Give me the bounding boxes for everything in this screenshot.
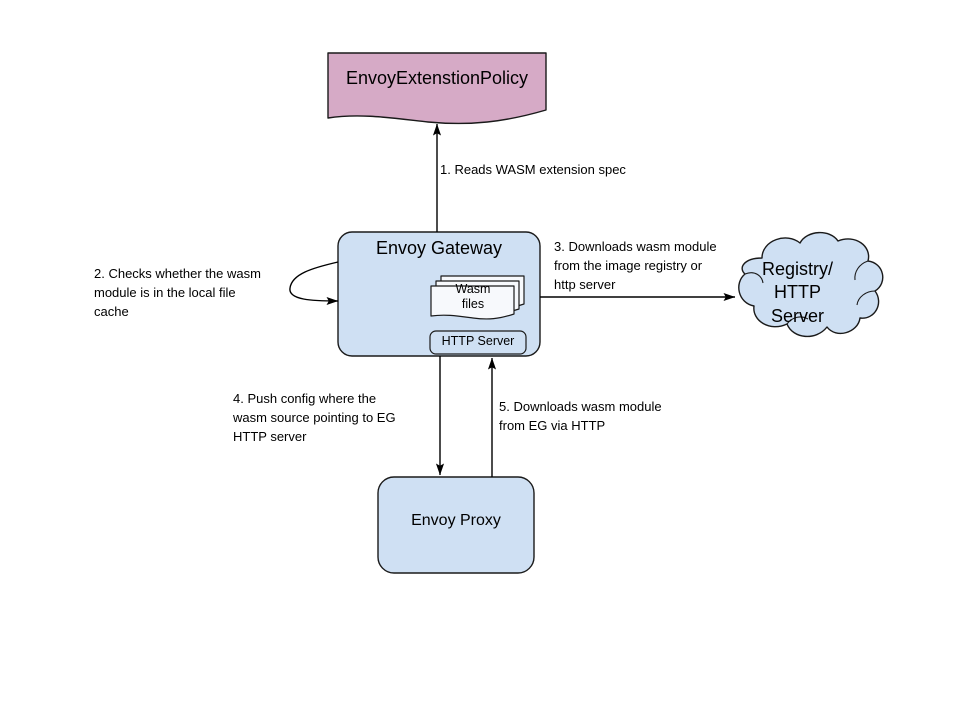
edge-label-downloads-from-registry: 3. Downloads wasm module from the image … (554, 238, 744, 295)
edge-label-downloads-from-eg: 5. Downloads wasm module from EG via HTT… (499, 398, 694, 436)
http-server-shape[interactable] (430, 331, 526, 354)
wasm-files-shape[interactable] (431, 286, 514, 319)
envoy-extension-policy-shape[interactable] (328, 53, 546, 124)
diagram-canvas: EnvoyExtenstionPolicy Envoy Gateway Wasm… (0, 0, 960, 720)
diagram-svg (0, 0, 960, 720)
edge-label-checks-local-file-cache: 2. Checks whether the wasm module is in … (94, 265, 294, 322)
envoy-proxy-shape[interactable] (378, 477, 534, 573)
registry-http-server-cloud-shape[interactable] (739, 233, 883, 337)
edge-label-push-config: 4. Push config where the wasm source poi… (233, 390, 428, 447)
edge-2-arrow (290, 262, 338, 301)
edge-label-reads-wasm-extension-spec: 1. Reads WASM extension spec (440, 161, 675, 180)
